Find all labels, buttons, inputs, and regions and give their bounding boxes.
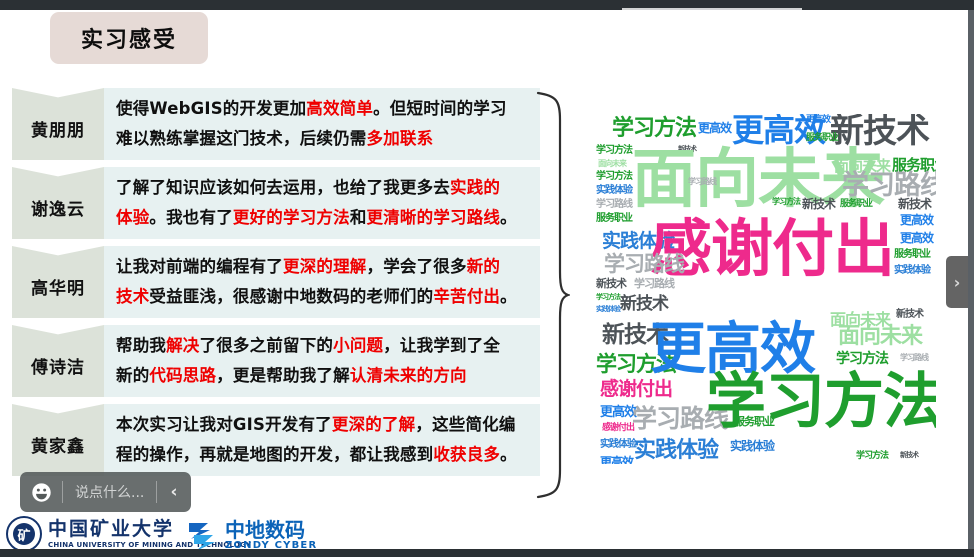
word-cloud-term: 感谢付出 — [602, 424, 634, 433]
plain-text: 难以熟练掌握这门技术，后续仍需 — [116, 129, 367, 148]
word-cloud-term: 更高效 — [900, 232, 933, 244]
testimonial-line: 使得WebGIS的开发更加高效简单。但短时间的学习 — [116, 94, 532, 124]
testimonial-list: 黄朋朋使得WebGIS的开发更加高效简单。但短时间的学习难以熟练掌握这门技术，后… — [12, 88, 540, 483]
chevron-left-icon[interactable]: ‹ — [157, 482, 191, 502]
testimonial-row: 黄朋朋使得WebGIS的开发更加高效简单。但短时间的学习难以熟练掌握这门技术，后… — [12, 88, 540, 160]
plain-text: 程的操作，再就是地图的开发，都让我感到 — [116, 445, 433, 464]
word-cloud-term: 更高效 — [698, 122, 731, 134]
testimonial-name: 高华明 — [31, 274, 85, 299]
testimonial-row: 谢逸云了解了知识应该如何去运用，也给了我更多去实践的体验。我也有了更好的学习方法… — [12, 167, 540, 239]
word-cloud-term: 服务职业 — [840, 200, 872, 209]
word-cloud-term: 服务职业 — [894, 250, 930, 260]
word-cloud-term: 感谢付出 — [650, 218, 894, 280]
plain-text: ，学会了很多 — [367, 257, 467, 276]
testimonial-name-cell: 高华明 — [12, 246, 104, 318]
testimonial-line: 技术受益匪浅，很感谢中地数码的老师们的辛苦付出。 — [116, 282, 532, 312]
highlight-text: 更清晰的学习路线 — [367, 208, 501, 227]
curly-brace — [536, 90, 570, 500]
testimonial-line: 新的代码思路，更是帮助我了解认清未来的方向 — [116, 361, 532, 391]
highlight-text: 多加联系 — [367, 129, 434, 148]
plain-text: 和 — [350, 208, 367, 227]
word-cloud-term: 更高效 — [600, 456, 633, 464]
word-cloud-term: 新技术 — [596, 278, 626, 289]
footer: 矿 中国矿业大学 CHINA UNIVERSITY OF MINING AND … — [0, 512, 968, 549]
testimonial-name-cell: 黄朋朋 — [12, 88, 104, 160]
word-cloud-term: 学习路线 — [900, 354, 928, 362]
word-cloud-term: 实践体验 — [894, 266, 930, 276]
word-cloud-term: 新技术 — [896, 310, 923, 320]
testimonial-name-cell: 谢逸云 — [12, 167, 104, 239]
page-title-text: 实习感受 — [81, 22, 177, 54]
screen: 实习感受 黄朋朋使得WebGIS的开发更加高效简单。但短时间的学习难以熟练掌握这… — [0, 0, 974, 557]
word-cloud-term: 学习方法 — [856, 452, 888, 461]
word-cloud-term: 学习路线 — [604, 254, 684, 275]
testimonial-line: 让我对前端的编程有了更深的理解，学会了很多新的 — [116, 252, 532, 282]
plain-text: ，更是帮助我了解 — [216, 366, 350, 385]
word-cloud-term: 服务职业 — [806, 134, 838, 143]
plain-text: 。 — [500, 208, 517, 227]
word-cloud-term: 感谢付出 — [600, 380, 672, 399]
side-panel-toggle[interactable]: › — [946, 256, 968, 308]
word-cloud-term: 学习路线 — [596, 200, 632, 210]
plain-text: 帮助我 — [116, 336, 166, 355]
zondy-name-en: ZONDY CYBER — [225, 540, 317, 549]
testimonial-name: 谢逸云 — [31, 195, 85, 220]
word-cloud-term: 实践体验 — [596, 186, 632, 196]
testimonial-line: 帮助我解决了很多之前留下的小问题，让我学到了全 — [116, 331, 532, 361]
word-cloud-term: 学习方法 — [596, 294, 620, 301]
testimonial-name-cell: 黄家鑫 — [12, 404, 104, 476]
highlight-text: 认清未来的方向 — [350, 366, 467, 385]
testimonial-name: 傅诗洁 — [31, 353, 85, 378]
word-cloud-term: 学习方法 — [612, 118, 696, 140]
plain-text: 受益匪浅，很感谢中地数码的老师们的 — [149, 287, 433, 306]
word-cloud-term: 学习方法 — [596, 146, 632, 156]
word-cloud-term: 新技术 — [900, 452, 918, 459]
highlight-text: 更好的学习方法 — [233, 208, 350, 227]
testimonial-line: 难以熟练掌握这门技术，后续仍需多加联系 — [116, 124, 532, 154]
testimonial-row: 高华明让我对前端的编程有了更深的理解，学会了很多新的技术受益匪浅，很感谢中地数码… — [12, 246, 540, 318]
highlight-text: 高效简单 — [306, 99, 373, 118]
plain-text: 新的 — [116, 366, 149, 385]
word-cloud-term: 学习路线 — [634, 278, 674, 289]
testimonial-row: 黄家鑫本次实习让我对GIS开发有了更深的了解，这些简化编程的操作，再就是地图的开… — [12, 404, 540, 476]
word-cloud-term: 学习方法 — [596, 172, 632, 182]
word-cloud-term: 学习方法 — [836, 352, 888, 366]
word-cloud-term: 更高效 — [600, 406, 636, 419]
testimonial-text-cell: 本次实习让我对GIS开发有了更深的了解，这些简化编程的操作，再就是地图的开发，都… — [104, 404, 540, 476]
highlight-text: 技术 — [116, 287, 149, 306]
chevron-right-icon[interactable]: › — [954, 273, 961, 292]
highlight-text: 代码思路 — [149, 366, 216, 385]
right-gutter — [968, 10, 974, 549]
plain-text: ，让我学到了全 — [383, 336, 500, 355]
plain-text: 了很多之前留下的 — [200, 336, 334, 355]
word-cloud: 学习方法更高效更高效更高效新技术学习方法新技术服务职业面向未来面向未来学习方法面… — [594, 114, 936, 464]
plain-text: 让我对前端的编程有了 — [116, 257, 283, 276]
zondy-name-cn: 中地数码 — [225, 520, 317, 540]
bottom-chrome-bar — [0, 549, 974, 557]
word-cloud-term: 面向未来 — [598, 160, 626, 168]
testimonial-text-cell: 帮助我解决了很多之前留下的小问题，让我学到了全新的代码思路，更是帮助我了解认清未… — [104, 325, 540, 397]
testimonial-line: 程的操作，再就是地图的开发，都让我感到收获良多。 — [116, 440, 532, 470]
highlight-text: 实践的 — [450, 178, 500, 197]
testimonial-row: 傅诗洁帮助我解决了很多之前留下的小问题，让我学到了全新的代码思路，更是帮助我了解… — [12, 325, 540, 397]
testimonial-text-cell: 使得WebGIS的开发更加高效简单。但短时间的学习难以熟练掌握这门技术，后续仍需… — [104, 88, 540, 160]
top-chrome-bar — [0, 0, 974, 10]
zondy-wordmark: 中地数码 ZONDY CYBER — [225, 520, 317, 549]
word-cloud-term: 新技术 — [802, 198, 835, 210]
word-cloud-term: 实践体验 — [596, 306, 620, 313]
word-cloud-term: 新技术 — [620, 296, 668, 313]
page-title: 实习感受 — [50, 12, 208, 64]
chat-placeholder[interactable]: 说点什么... — [63, 482, 156, 502]
cumt-seal-char: 矿 — [13, 523, 35, 545]
chat-input-bar[interactable]: 说点什么... ‹ — [20, 472, 191, 512]
plain-text: 使得WebGIS的开发更加 — [116, 99, 306, 118]
plain-text: 。 — [500, 445, 517, 464]
plain-text: 。 — [500, 287, 517, 306]
word-cloud-term: 学习方法 — [772, 198, 800, 206]
testimonial-name-cell: 傅诗洁 — [12, 325, 104, 397]
word-cloud-term: 更高效 — [806, 116, 830, 125]
highlight-text: 更深的理解 — [283, 257, 367, 276]
highlight-text: 新的 — [467, 257, 500, 276]
word-cloud-term: 更高效 — [900, 214, 933, 226]
smiley-icon[interactable] — [20, 482, 62, 503]
testimonial-line: 了解了知识应该如何去运用，也给了我更多去实践的 — [116, 173, 532, 203]
plain-text: 本次实习让我对GIS开发有了 — [116, 415, 332, 434]
highlight-text: 辛苦付出 — [433, 287, 500, 306]
zondy-mark-icon — [186, 520, 220, 549]
word-cloud-term: 服务职业 — [734, 416, 774, 427]
plain-text: 。但短时间的学习 — [373, 99, 507, 118]
word-cloud-term: 实践体验 — [634, 440, 718, 462]
word-cloud-term: 实践体验 — [730, 440, 774, 452]
cumt-seal-icon: 矿 — [6, 516, 42, 549]
word-cloud-term: 服务职业 — [596, 214, 632, 224]
testimonial-line: 本次实习让我对GIS开发有了更深的了解，这些简化编 — [116, 410, 532, 440]
highlight-text: 体验 — [116, 208, 149, 227]
highlight-text: 更深的了解 — [332, 415, 416, 434]
plain-text: ，这些简化编 — [415, 415, 515, 434]
word-cloud-term: 学习路线 — [688, 178, 716, 186]
logo-zondy: 中地数码 ZONDY CYBER — [186, 520, 317, 549]
highlight-text: 解决 — [166, 336, 199, 355]
testimonial-text-cell: 让我对前端的编程有了更深的理解，学会了很多新的技术受益匪浅，很感谢中地数码的老师… — [104, 246, 540, 318]
highlight-text: 小问题 — [333, 336, 383, 355]
testimonial-name: 黄家鑫 — [31, 432, 85, 457]
word-cloud-term: 学习路线 — [842, 172, 936, 199]
word-cloud-term: 实践体验 — [600, 440, 636, 450]
plain-text: 了解了知识应该如何去运用，也给了我更多去 — [116, 178, 450, 197]
testimonial-name: 黄朋朋 — [31, 116, 85, 141]
testimonial-line: 体验。我也有了更好的学习方法和更清晰的学习路线。 — [116, 203, 532, 233]
word-cloud-term: 面向未来 — [838, 326, 922, 348]
testimonial-text-cell: 了解了知识应该如何去运用，也给了我更多去实践的体验。我也有了更好的学习方法和更清… — [104, 167, 540, 239]
slide-canvas: 实习感受 黄朋朋使得WebGIS的开发更加高效简单。但短时间的学习难以熟练掌握这… — [0, 10, 968, 549]
highlight-text: 收获良多 — [433, 445, 500, 464]
plain-text: 。我也有了 — [149, 208, 233, 227]
word-cloud-term: 新技术 — [898, 198, 931, 210]
